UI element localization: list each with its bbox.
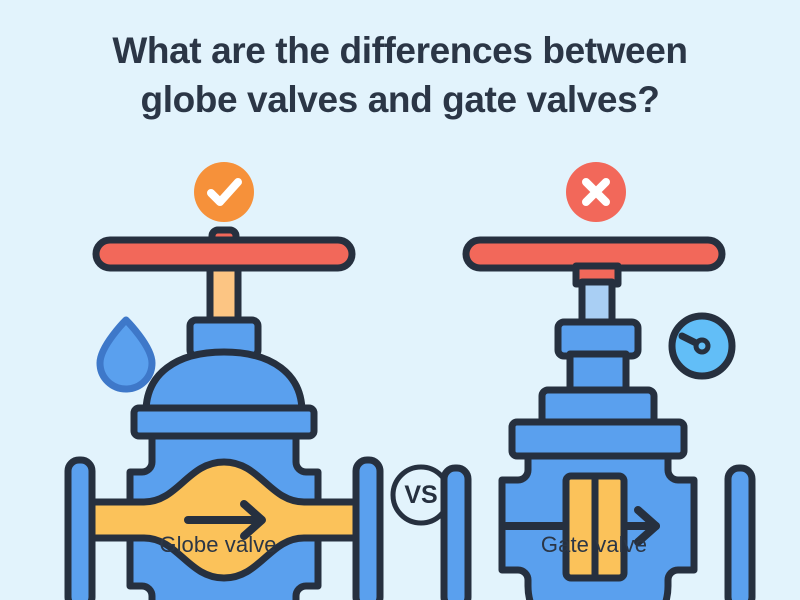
water-droplet-icon (100, 320, 152, 389)
gate-valve-label: Gate valve (424, 532, 764, 558)
gate-valve-panel: Gate valve (424, 150, 764, 600)
check-badge (194, 162, 254, 222)
bonnet-tier-4 (512, 422, 684, 456)
page-title-line-1: What are the differences between (0, 26, 800, 75)
page-title: What are the differences between globe v… (0, 26, 800, 124)
gate-plates (566, 476, 624, 578)
page-title-line-2: globe valves and gate valves? (0, 75, 800, 124)
valve-stem (582, 282, 612, 324)
valve-stem (210, 268, 238, 322)
inlet-flange (68, 460, 92, 600)
cross-badge (566, 162, 626, 222)
globe-valve-panel: Globe valve (48, 150, 388, 600)
bonnet-dome (146, 352, 302, 412)
pressure-gauge-icon (672, 316, 732, 376)
outlet-flange (356, 460, 380, 600)
bonnet-flange (134, 408, 314, 436)
gate-valve-illustration (424, 150, 764, 550)
globe-valve-illustration (48, 150, 388, 550)
handwheel-bar (96, 240, 352, 268)
globe-valve-label: Globe valve (48, 532, 388, 558)
bonnet-tier-2 (570, 354, 626, 392)
infographic-page: What are the differences between globe v… (0, 0, 800, 600)
comparison-stage: Globe valve VS (0, 150, 800, 600)
